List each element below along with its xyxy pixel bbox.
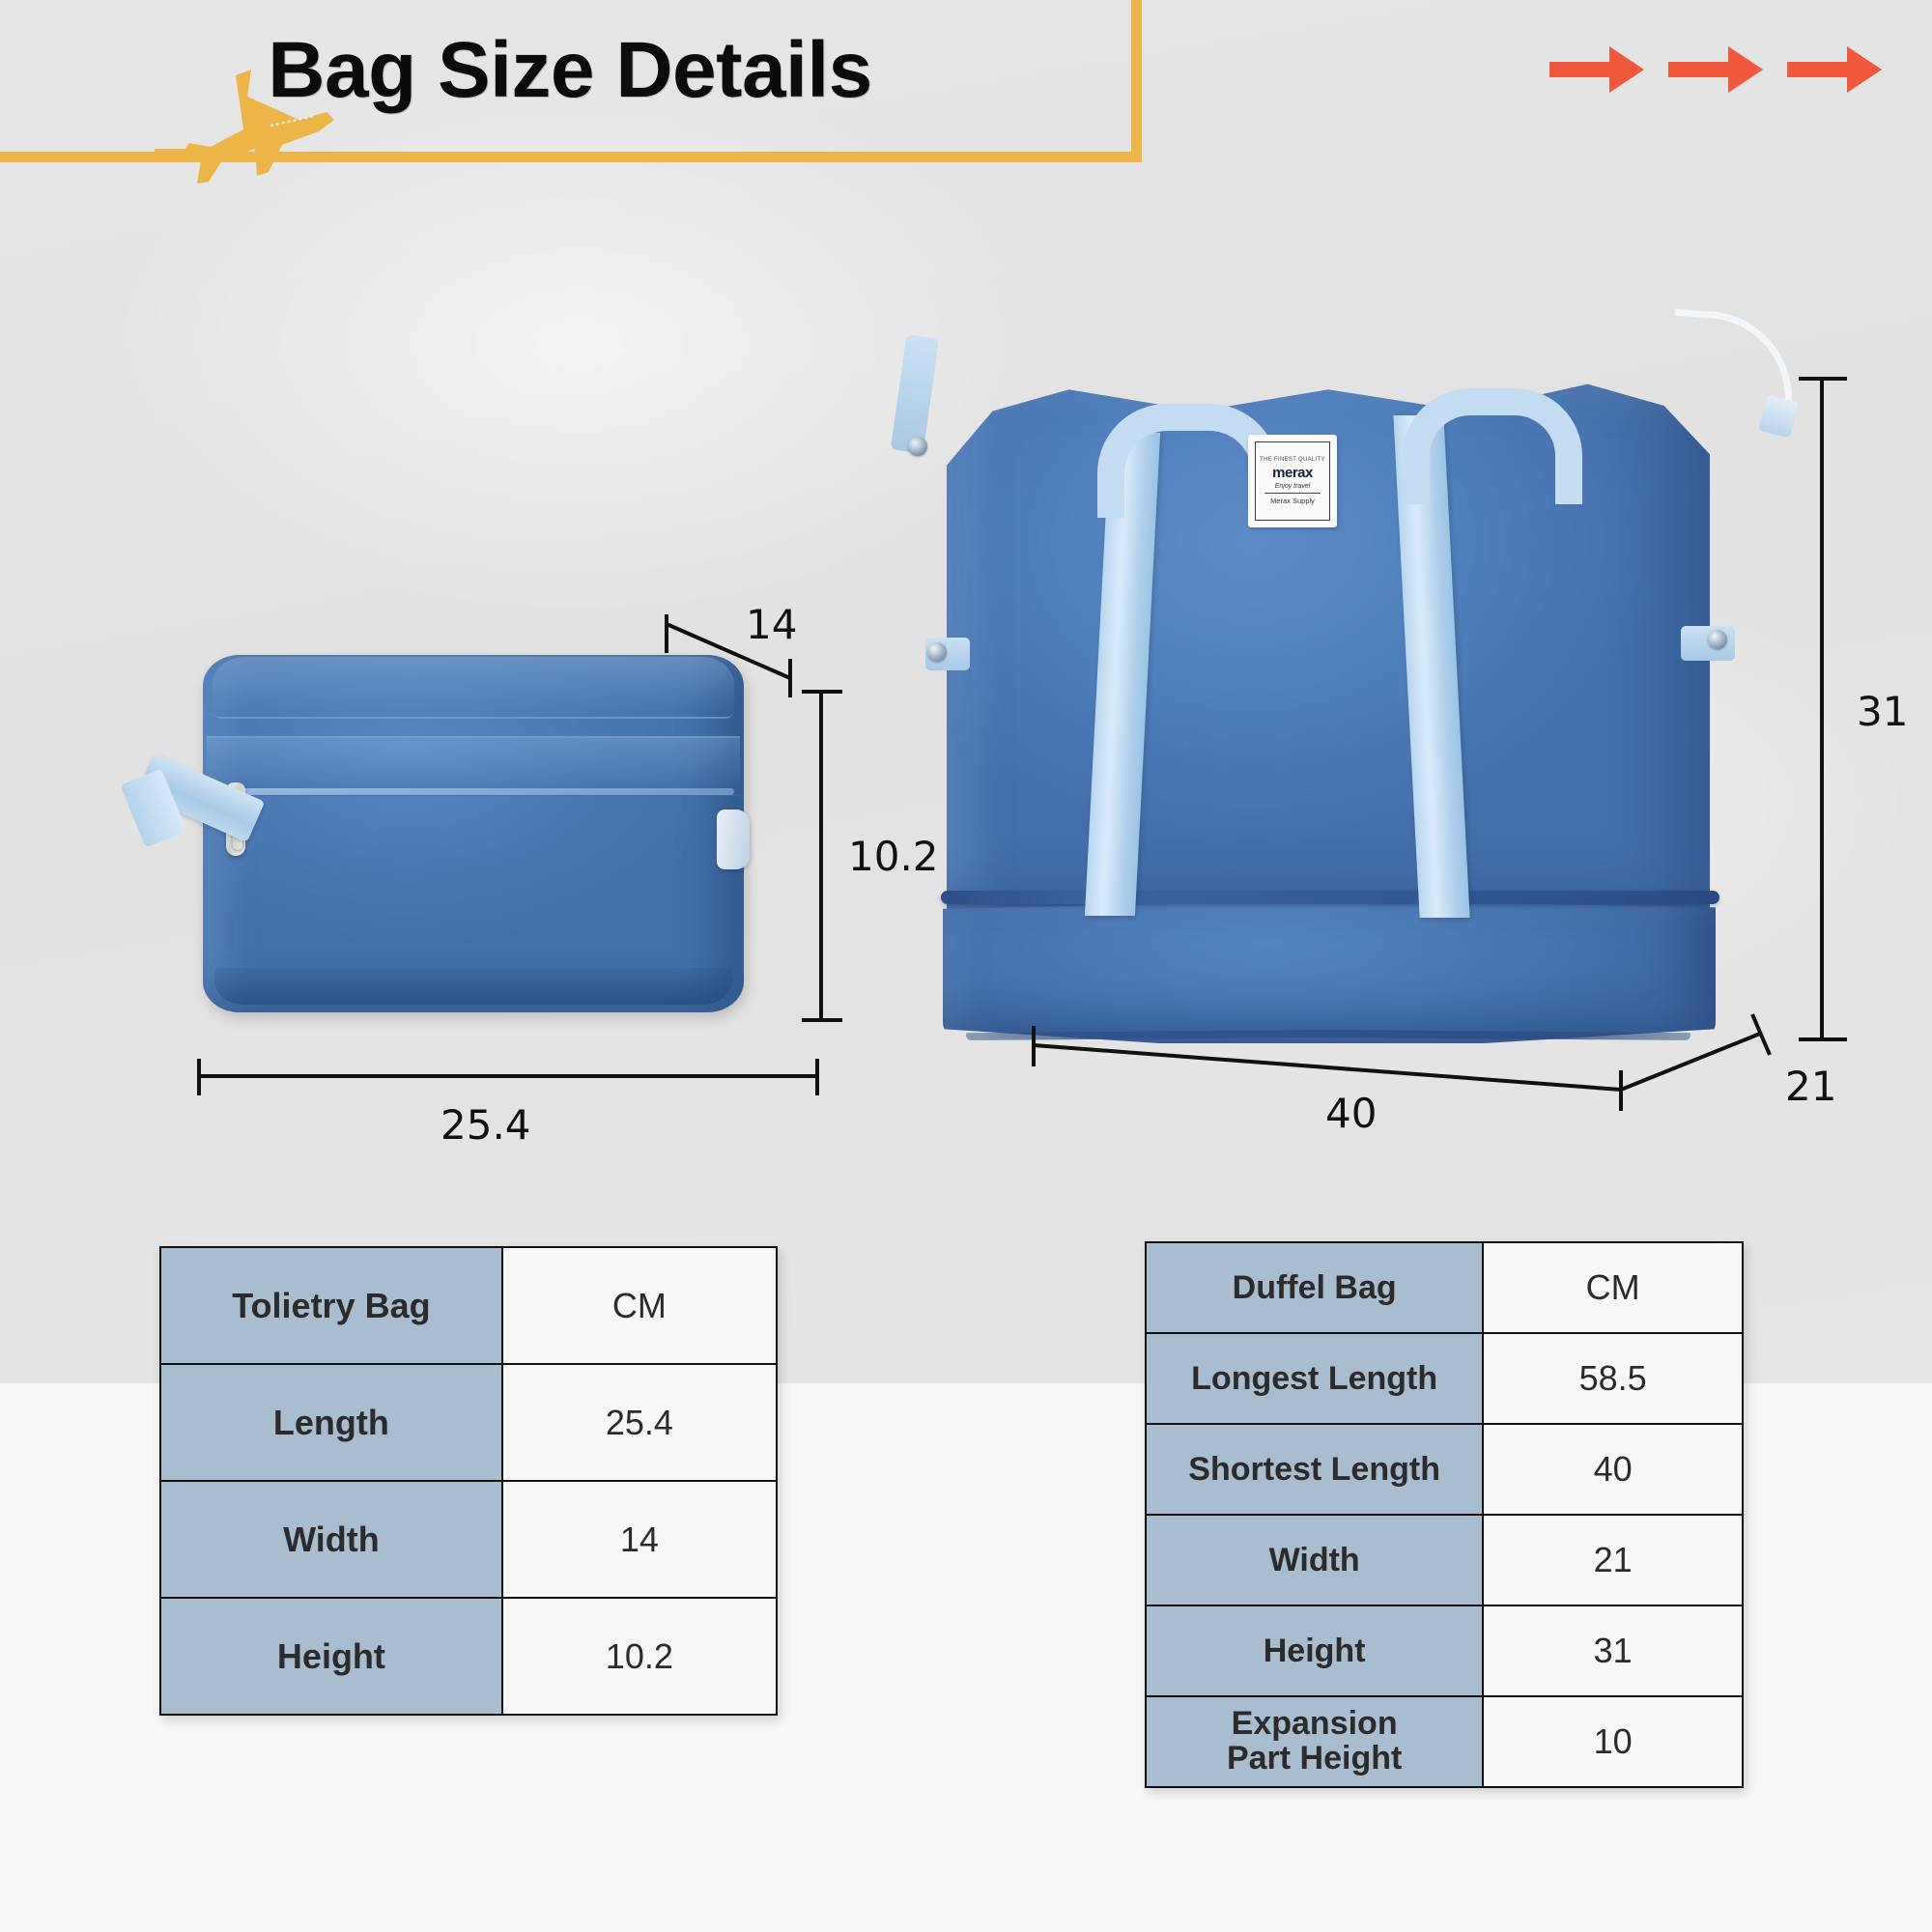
toiletry-bag-bottom-seam [214,968,732,1005]
row-label-width: Width [160,1481,502,1598]
toiletry-bag-zipper [214,788,734,795]
row-label-width: Width [1146,1515,1483,1605]
duffel-bag-snap-button [927,642,947,662]
table-row: Tolietry Bag CM [160,1247,777,1364]
duffel-bag-brand-label: THE FINEST QUALITY merax Enjoy travel Me… [1248,435,1337,527]
duffel-bag-expansion-section [943,900,1716,1043]
toiletry-length-dimension-label: 25.4 [440,1101,531,1149]
table-row: Longest Length 58.5 [1146,1333,1743,1424]
duffel-bag-photo: THE FINEST QUALITY merax Enjoy travel Me… [908,348,1797,1063]
toiletry-bag-front-flap [207,736,740,796]
duffel-bag-table: Duffel Bag CM Longest Length 58.5 Shorte… [1145,1241,1744,1788]
row-value-longest-length: 58.5 [1483,1333,1743,1424]
table-header-unit: CM [502,1247,777,1364]
table-row: Expansion Part Height 10 [1146,1696,1743,1787]
arrow-right-icon [1668,43,1765,97]
table-row: Length 25.4 [160,1364,777,1481]
row-label-shortest-length: Shortest Length [1146,1424,1483,1515]
table-header-label: Tolietry Bag [160,1247,502,1364]
row-value-length: 25.4 [502,1364,777,1481]
table-row: Height 31 [1146,1605,1743,1696]
label-tagline-text: Enjoy travel [1275,483,1311,490]
row-value-width: 21 [1483,1515,1743,1605]
table-header-label: Duffel Bag [1146,1242,1483,1333]
page-title: Bag Size Details [0,17,1140,124]
duffel-width-dimension-label: 21 [1785,1063,1836,1110]
toiletry-height-dimension-label: 10.2 [848,833,939,880]
table-row: Width 21 [1146,1515,1743,1605]
table-row: Duffel Bag CM [1146,1242,1743,1333]
arrow-right-icon [1549,43,1646,97]
duffel-length-dimension-label: 40 [1325,1090,1377,1137]
table-header-unit: CM [1483,1242,1743,1333]
duffel-bag-cord-snap [1758,394,1799,438]
duffel-bag-expansion-zipper [941,891,1719,904]
duffel-bag-snap-button [1708,630,1727,649]
arrow-right-icon [1787,43,1884,97]
row-label-line2: Part Height [1148,1742,1481,1776]
row-label-height: Height [1146,1605,1483,1696]
row-value-shortest-length: 40 [1483,1424,1743,1515]
row-label-length: Length [160,1364,502,1481]
table-row: Shortest Length 40 [1146,1424,1743,1515]
table-row: Height 10.2 [160,1598,777,1715]
table-row: Width 14 [160,1481,777,1598]
duffel-bag-snap-button [908,437,927,456]
row-label-line1: Expansion [1148,1707,1481,1742]
row-value-height: 31 [1483,1605,1743,1696]
label-supply-text: Merax Supply [1270,497,1315,505]
toiletry-width-dimension-label: 14 [746,601,797,648]
toiletry-bag-photo [145,628,840,1034]
row-value-width: 14 [502,1481,777,1598]
toiletry-bag-top-seam [213,657,734,719]
label-brand-text: merax [1272,465,1313,481]
label-quality-text: THE FINEST QUALITY [1260,457,1325,463]
row-value-expansion-part-height: 10 [1483,1696,1743,1787]
duffel-bag-handle-loop [1403,388,1582,504]
row-label-expansion-part-height: Expansion Part Height [1146,1696,1483,1787]
toiletry-bag-side-tab [717,810,750,869]
row-label-height: Height [160,1598,502,1715]
label-divider [1264,493,1321,494]
row-value-height: 10.2 [502,1598,777,1715]
toiletry-bag-table: Tolietry Bag CM Length 25.4 Width 14 Hei… [159,1246,778,1716]
row-label-longest-length: Longest Length [1146,1333,1483,1424]
duffel-height-dimension-label: 31 [1857,688,1908,735]
